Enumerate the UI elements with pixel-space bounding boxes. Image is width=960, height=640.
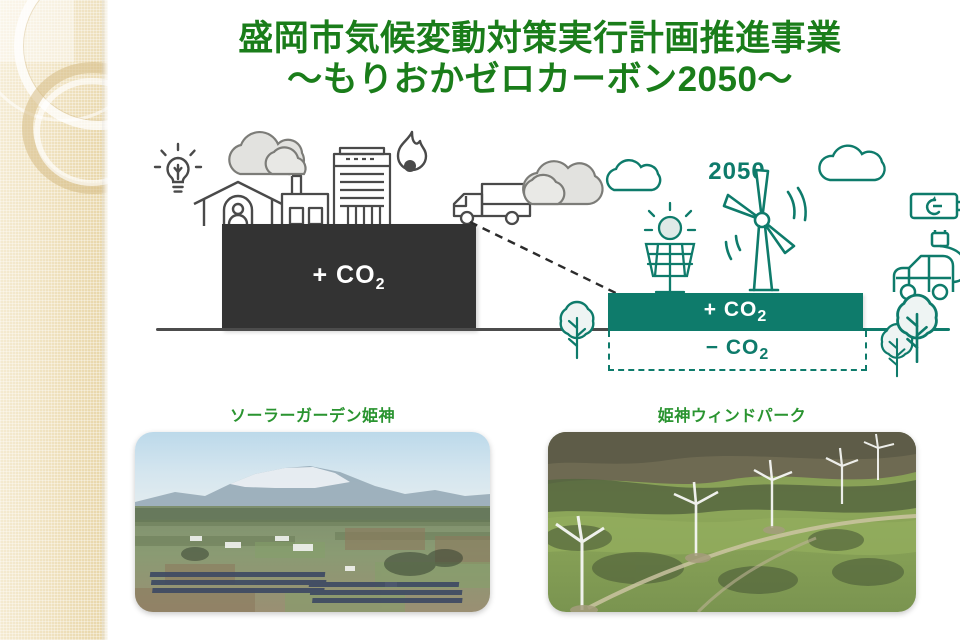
page-title: 盛岡市気候変動対策実行計画推進事業 〜もりおかゼロカーボン2050〜 xyxy=(130,18,950,101)
battery-recycle-icon xyxy=(908,188,960,224)
slide-canvas: 盛岡市気候変動対策実行計画推進事業 〜もりおかゼロカーボン2050〜 xyxy=(0,0,960,640)
photo-solar-garden-himekami xyxy=(135,432,490,612)
present-co2-label: + CO2 xyxy=(313,261,386,294)
future-co2-minus-label: − CO2 xyxy=(706,336,770,364)
theme-decoration-band xyxy=(0,0,108,640)
tree-icon xyxy=(548,296,606,370)
future-co2-plus-label: + CO2 xyxy=(704,298,768,326)
flame-icon xyxy=(386,128,438,184)
title-line-2: 〜もりおかゼロカーボン2050〜 xyxy=(130,59,950,100)
photo-himekami-wind-park xyxy=(548,432,916,612)
title-line-1: 盛岡市気候変動対策実行計画推進事業 xyxy=(130,18,950,59)
wind-turbine-icon xyxy=(702,158,822,298)
tree-icon xyxy=(882,288,952,376)
carbon-infographic: + CO2 2050 xyxy=(130,128,950,390)
solar-farm-aerial-photo xyxy=(135,432,490,612)
solar-panel-icon xyxy=(626,200,714,296)
cloud-icon xyxy=(598,156,674,196)
future-co2-block: + CO2 xyxy=(608,293,863,331)
cloud-icon xyxy=(812,140,904,186)
house-icon xyxy=(188,180,288,228)
future-co2-minus-zone: − CO2 xyxy=(608,331,867,371)
band-edge-fade xyxy=(101,0,108,640)
dashed-connector-line xyxy=(466,216,626,302)
photo-caption-wind: 姫神ウィンドパーク xyxy=(548,402,916,426)
photo-caption-solar: ソーラーガーデン姫神 xyxy=(135,402,490,426)
wind-farm-aerial-photo xyxy=(548,432,916,612)
present-co2-block: + CO2 xyxy=(222,224,476,330)
